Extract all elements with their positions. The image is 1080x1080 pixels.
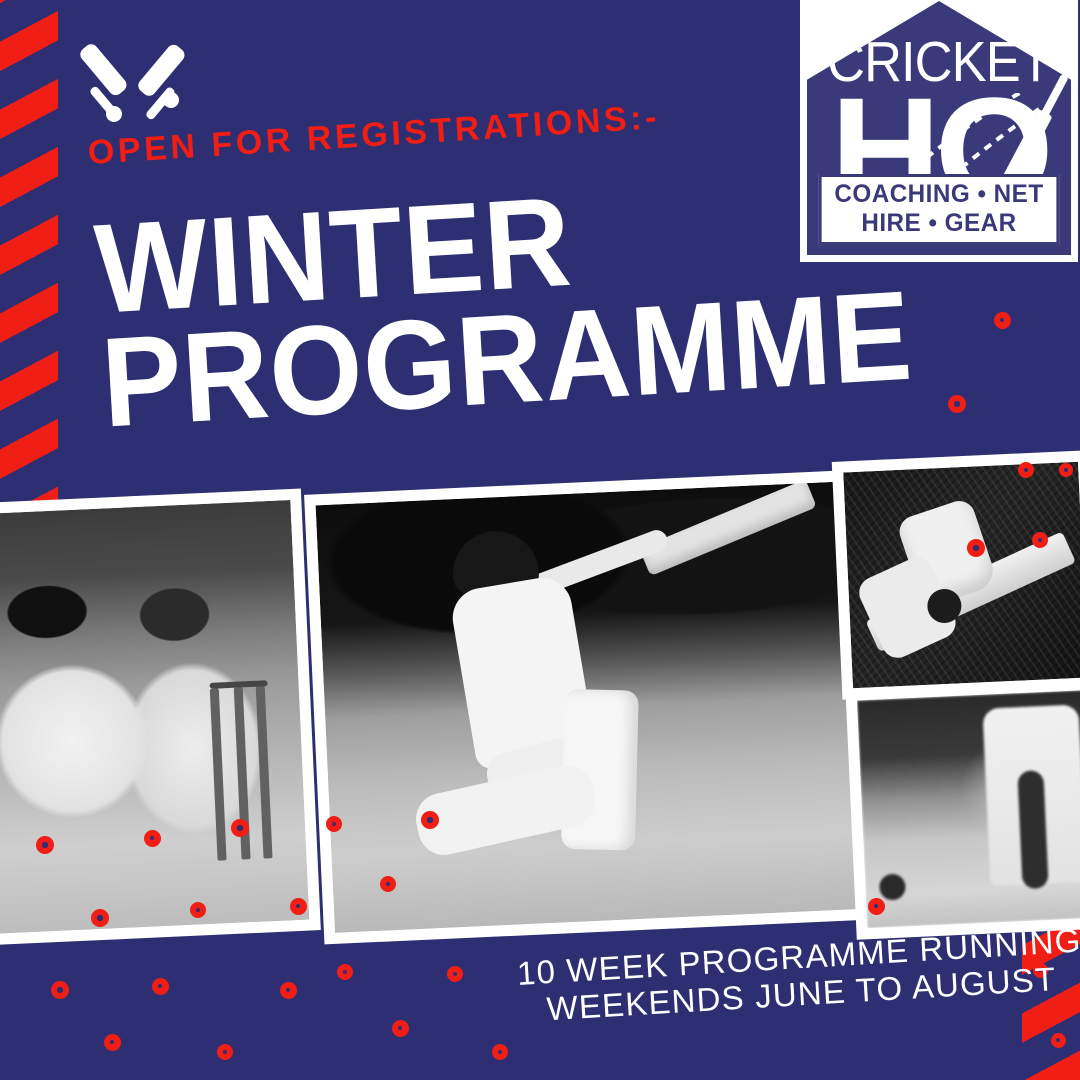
ball-dot (1018, 462, 1034, 478)
photo-bottomright-image (857, 690, 1080, 928)
ball-dot (290, 898, 307, 915)
ball-dot (1051, 1033, 1066, 1048)
logo-tagline: COACHING • NET HIRE • GEAR (819, 174, 1060, 245)
ball-dot (1059, 463, 1073, 477)
crossed-bats-icon (78, 36, 188, 128)
ball-dot (967, 539, 985, 557)
ball-dot (337, 964, 353, 980)
cricket-hq-logo: CRICKET HQ COACHING • NET HIRE • GEAR (800, 0, 1078, 262)
photo-bowler-walking (857, 690, 1080, 928)
ball-dot (326, 816, 342, 832)
ball-dot (36, 836, 54, 854)
photo-topright-image (843, 462, 1080, 688)
ball-dot (492, 1044, 508, 1060)
photo-collage (0, 455, 1080, 945)
photo-batsman-and-keeper (0, 500, 309, 934)
ball-dot (51, 981, 69, 999)
ball-dot (948, 395, 966, 413)
ball-dot (868, 898, 885, 915)
bat-shape (639, 481, 817, 576)
ball-dot (1032, 532, 1048, 548)
ball-dot (190, 902, 206, 918)
ball-dot (421, 811, 439, 829)
ball-dot (380, 876, 396, 892)
ball-dot (152, 978, 169, 995)
photo-batsman-sweep (316, 481, 870, 933)
ball-dot (217, 1044, 233, 1060)
ball-dot (144, 830, 161, 847)
ground-ball-shape (879, 873, 906, 900)
left-stripe-pattern (0, 0, 58, 516)
photo-left-image (0, 500, 309, 934)
poster-canvas: OPEN FOR REGISTRATIONS:- WINTER PROGRAMM… (0, 0, 1080, 1080)
ball-dot (280, 982, 297, 999)
ball-dot (231, 819, 249, 837)
photo-center-image (316, 481, 870, 933)
ball-dot (104, 1034, 121, 1051)
ball-dot (994, 312, 1011, 329)
ball-dot (392, 1020, 409, 1037)
ball-dot (91, 909, 109, 927)
ball-dot (447, 966, 463, 982)
photo-gloves-ball-bat (843, 462, 1080, 688)
